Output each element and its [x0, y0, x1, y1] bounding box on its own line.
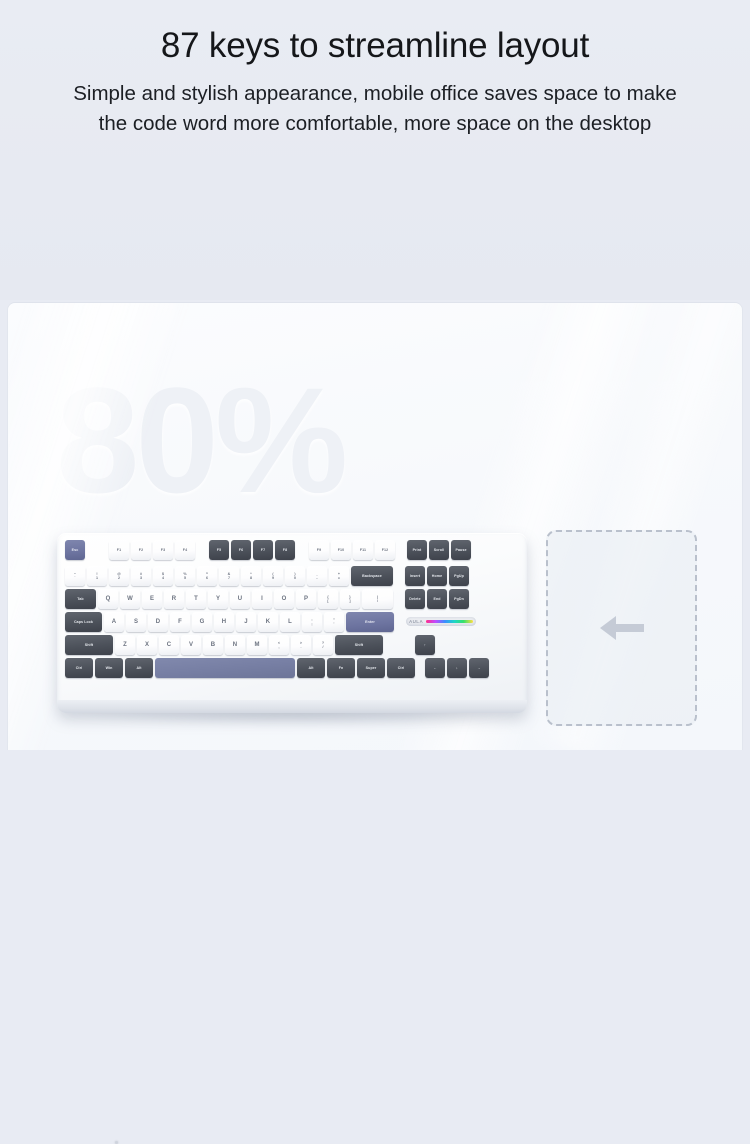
keyboard-key[interactable]: F5 [209, 540, 229, 560]
keyboard-key[interactable]: Win [95, 658, 123, 678]
keyboard-key[interactable]: $4 [153, 566, 173, 586]
keyboard-key[interactable]: F6 [231, 540, 251, 560]
key-gap [417, 658, 423, 678]
keyboard-key[interactable]: *8 [241, 566, 261, 586]
key-label: *8 [250, 572, 252, 581]
key-label: O [282, 597, 287, 601]
key-label: !1 [96, 572, 98, 581]
key-gap [87, 540, 107, 560]
keyboard-row-qwerty-row: TabQWERTYUIOP{[}]|\DeleteEndPgDn [65, 589, 471, 609]
keyboard-key[interactable]: F1 [109, 540, 129, 560]
key-label: Home [432, 574, 442, 578]
keyboard-key[interactable]: H [214, 612, 234, 632]
key-label: F12 [382, 548, 389, 552]
key-label: ~` [74, 572, 76, 581]
key-label: Shift [355, 643, 363, 647]
keyboard-key[interactable]: G [192, 612, 212, 632]
keyboard-key[interactable]: }] [340, 589, 360, 609]
keyboard-key[interactable]: → [469, 658, 489, 678]
keyboard-key[interactable]: End [427, 589, 447, 609]
key-label: Scroll [434, 548, 445, 552]
key-label: |\ [377, 595, 378, 604]
key-label: @2 [117, 572, 121, 581]
keyboard-key[interactable]: Alt [297, 658, 325, 678]
key-label: {[ [327, 595, 329, 604]
keyboard-key[interactable]: ?/ [313, 635, 333, 655]
key-label: :; [311, 618, 312, 627]
key-label: A [112, 620, 116, 624]
keyboard-key[interactable]: Pause [451, 540, 471, 560]
keyboard-key[interactable]: F11 [353, 540, 373, 560]
keyboard-key[interactable]: Delete [405, 589, 425, 609]
keyboard-key[interactable]: F12 [375, 540, 395, 560]
rgb-gradient-bar [426, 620, 473, 624]
keyboard-key[interactable]: %5 [175, 566, 195, 586]
key-label: Win [106, 666, 113, 670]
keyboard-key[interactable] [155, 658, 295, 678]
key-gap [385, 635, 413, 655]
keyboard-key[interactable]: += [329, 566, 349, 586]
key-label: Caps Lock [74, 620, 93, 624]
keyboard-key[interactable]: W [120, 589, 140, 609]
keyboard-key[interactable]: #3 [131, 566, 151, 586]
keyboard-key[interactable]: F9 [309, 540, 329, 560]
key-label: Ctrl [76, 666, 83, 670]
key-label: )0 [294, 572, 296, 581]
keyboard-row-bottom-row: CtrlWinAltAltFnSuperCtrl←↓→ [65, 658, 491, 678]
keyboard-key[interactable]: D [148, 612, 168, 632]
key-label: J [244, 620, 247, 624]
key-label: ?/ [322, 641, 324, 650]
key-label: Ctrl [398, 666, 405, 670]
keyboard-key[interactable]: X [137, 635, 157, 655]
key-label: }] [349, 595, 351, 604]
keyboard-key[interactable]: Esc [65, 540, 85, 560]
subtitle-line-1: Simple and stylish appearance, mobile of… [10, 79, 740, 109]
keyboard-key[interactable]: A [104, 612, 124, 632]
keyboard-key[interactable]: Print [407, 540, 427, 560]
keyboard-row-function-row: EscF1F2F3F4F5F6F7F8F9F10F11F12PrintScrol… [65, 540, 473, 560]
keyboard-key[interactable]: Ctrl [65, 658, 93, 678]
keyboard-key[interactable]: T [186, 589, 206, 609]
keyboard-key[interactable]: {[ [318, 589, 338, 609]
key-label: S [134, 620, 138, 624]
key-label: F3 [161, 548, 165, 552]
keyboard-key[interactable]: C [159, 635, 179, 655]
product-feature-page: 87 keys to streamline layout Simple and … [0, 0, 750, 750]
keyboard-key[interactable]: Shift [65, 635, 113, 655]
keyboard-key[interactable]: F3 [153, 540, 173, 560]
keyboard-key[interactable]: :; [302, 612, 322, 632]
key-label: F2 [139, 548, 143, 552]
key-label: V [189, 643, 193, 647]
key-label: $4 [162, 572, 164, 581]
key-label: B [211, 643, 215, 647]
key-label: _- [316, 572, 318, 581]
key-label: Insert [410, 574, 420, 578]
key-label: &7 [228, 572, 231, 581]
image-placeholder-box[interactable] [546, 530, 697, 726]
key-label: PgUp [454, 574, 464, 578]
key-label: H [222, 620, 226, 624]
key-label: T [194, 597, 198, 601]
keyboard-key[interactable]: ^6 [197, 566, 217, 586]
brand-badge: AULA [406, 617, 476, 626]
keyboard-key[interactable]: I [252, 589, 272, 609]
keyboard-key[interactable]: !1 [87, 566, 107, 586]
keyboard-key[interactable]: E [142, 589, 162, 609]
key-label: F8 [283, 548, 287, 552]
keyboard-key[interactable]: Alt [125, 658, 153, 678]
keyboard-key[interactable]: PgUp [449, 566, 469, 586]
keyboard-key[interactable]: Home [427, 566, 447, 586]
key-label: F1 [117, 548, 121, 552]
keyboard-key[interactable]: F4 [175, 540, 195, 560]
key-label: U [238, 597, 242, 601]
keyboard-row-home-row: Caps LockASDFGHJKL:;"'EnterAULA [65, 612, 476, 632]
keyboard-key[interactable]: ↑ [415, 635, 435, 655]
key-label: R [172, 597, 176, 601]
keyboard-key[interactable]: P [296, 589, 316, 609]
keyboard-front-edge [57, 700, 527, 713]
key-label: F4 [183, 548, 187, 552]
keyboard-keys-area: EscF1F2F3F4F5F6F7F8F9F10F11F12PrintScrol… [61, 537, 523, 701]
key-label: E [150, 597, 154, 601]
keyboard-key[interactable]: Ctrl [387, 658, 415, 678]
key-gap [297, 540, 307, 560]
keyboard-key[interactable]: )0 [285, 566, 305, 586]
key-label: Tab [77, 597, 83, 601]
page-title: 87 keys to streamline layout [0, 24, 750, 68]
keyboard-key[interactable]: Enter [346, 612, 394, 632]
key-label: >. [300, 641, 302, 650]
keyboard-key[interactable]: Z [115, 635, 135, 655]
key-gap [395, 589, 403, 609]
key-label: += [338, 572, 340, 581]
keyboard-key[interactable]: Tab [65, 589, 96, 609]
key-label: ← [433, 666, 437, 670]
key-label: Y [216, 597, 220, 601]
key-label: Fn [339, 666, 344, 670]
keyboard-key[interactable]: V [181, 635, 201, 655]
key-label: Z [123, 643, 127, 647]
keyboard-row-number-row: ~`!1@2#3$4%5^6&7*8(9)0_-+=BackspaceInser… [65, 566, 471, 586]
key-label: Alt [136, 666, 141, 670]
key-label: "' [333, 618, 335, 627]
keyboard-key[interactable]: Super [357, 658, 385, 678]
key-label: K [266, 620, 270, 624]
key-label: I [261, 597, 263, 601]
subtitle-line-2: the code word more comfortable, more spa… [10, 109, 740, 139]
key-label: ↑ [424, 643, 426, 647]
key-label: F6 [239, 548, 243, 552]
key-label: W [127, 597, 133, 601]
key-label: #3 [140, 572, 142, 581]
keyboard-key[interactable]: >. [291, 635, 311, 655]
key-label: Print [413, 548, 422, 552]
key-label: Pause [455, 548, 466, 552]
key-label: ↓ [456, 666, 458, 670]
keyboard-key[interactable]: K [258, 612, 278, 632]
key-label: P [304, 597, 308, 601]
key-label: C [167, 643, 171, 647]
keyboard-key[interactable]: F10 [331, 540, 351, 560]
page-subtitle: Simple and stylish appearance, mobile of… [10, 79, 740, 139]
key-label: X [145, 643, 149, 647]
keyboard-key[interactable]: F2 [131, 540, 151, 560]
keyboard-key[interactable]: F8 [275, 540, 295, 560]
key-gap [197, 540, 207, 560]
key-label: Backspace [362, 574, 382, 578]
key-label: Esc [72, 548, 79, 552]
key-label: N [233, 643, 237, 647]
key-label: Alt [308, 666, 313, 670]
key-gap [395, 566, 403, 586]
keyboard-key[interactable]: ← [425, 658, 445, 678]
keyboard-key[interactable]: Caps Lock [65, 612, 102, 632]
key-label: → [477, 666, 481, 670]
key-label: F10 [338, 548, 345, 552]
keyboard-key[interactable]: "' [324, 612, 344, 632]
keyboard-key[interactable]: U [230, 589, 250, 609]
key-label: Enter [365, 620, 375, 624]
keyboard-key[interactable]: (9 [263, 566, 283, 586]
keyboard-key[interactable]: Fn [327, 658, 355, 678]
key-label: <, [278, 641, 280, 650]
keyboard-key[interactable]: B [203, 635, 223, 655]
arrow-left-icon [594, 608, 650, 648]
keyboard-key[interactable]: @2 [109, 566, 129, 586]
keyboard-key[interactable]: N [225, 635, 245, 655]
key-label: D [156, 620, 160, 624]
keyboard-key[interactable]: _- [307, 566, 327, 586]
keyboard-key[interactable]: L [280, 612, 300, 632]
keyboard-key[interactable]: Q [98, 589, 118, 609]
key-label: ^6 [206, 572, 208, 581]
keyboard-key[interactable]: PgDn [449, 589, 469, 609]
keyboard-row-shift-row: ShiftZXCVBNM<,>.?/Shift↑ [65, 635, 437, 655]
keyboard-key[interactable]: M [247, 635, 267, 655]
key-label: L [288, 620, 292, 624]
key-label: %5 [183, 572, 186, 581]
key-label: F5 [217, 548, 221, 552]
key-label: F [178, 620, 182, 624]
header-section: 87 keys to streamline layout Simple and … [0, 0, 750, 300]
key-label: F7 [261, 548, 265, 552]
key-label: Delete [409, 597, 420, 601]
keyboard-key[interactable]: Scroll [429, 540, 449, 560]
brand-name: AULA [409, 619, 423, 624]
keyboard-key[interactable]: O [274, 589, 294, 609]
keyboard-key[interactable]: &7 [219, 566, 239, 586]
keyboard-key[interactable]: R [164, 589, 184, 609]
key-label: End [433, 597, 440, 601]
keyboard-key[interactable]: Shift [335, 635, 383, 655]
keyboard-key[interactable]: F [170, 612, 190, 632]
keyboard-key[interactable]: Y [208, 589, 228, 609]
key-label: G [200, 620, 205, 624]
key-label: M [254, 643, 259, 647]
keyboard-key[interactable]: |\ [362, 589, 393, 609]
keyboard-key[interactable]: <, [269, 635, 289, 655]
key-label: Q [106, 597, 111, 601]
keyboard-key[interactable]: S [126, 612, 146, 632]
mechanical-keyboard[interactable]: EscF1F2F3F4F5F6F7F8F9F10F11F12PrintScrol… [57, 533, 527, 713]
key-label: F11 [360, 548, 366, 552]
key-gap [396, 612, 404, 632]
keyboard-key[interactable]: Backspace [351, 566, 393, 586]
key-label: PgDn [454, 597, 464, 601]
key-label: Shift [85, 643, 93, 647]
key-label: F9 [317, 548, 321, 552]
keyboard-key[interactable]: Insert [405, 566, 425, 586]
keyboard-key[interactable]: F7 [253, 540, 273, 560]
key-label: (9 [272, 572, 274, 581]
percent-watermark: 80% [56, 365, 344, 515]
key-label: Super [366, 666, 377, 670]
keyboard-key[interactable]: ~` [65, 566, 85, 586]
key-gap [397, 540, 405, 560]
keyboard-key[interactable]: ↓ [447, 658, 467, 678]
keyboard-key[interactable]: J [236, 612, 256, 632]
